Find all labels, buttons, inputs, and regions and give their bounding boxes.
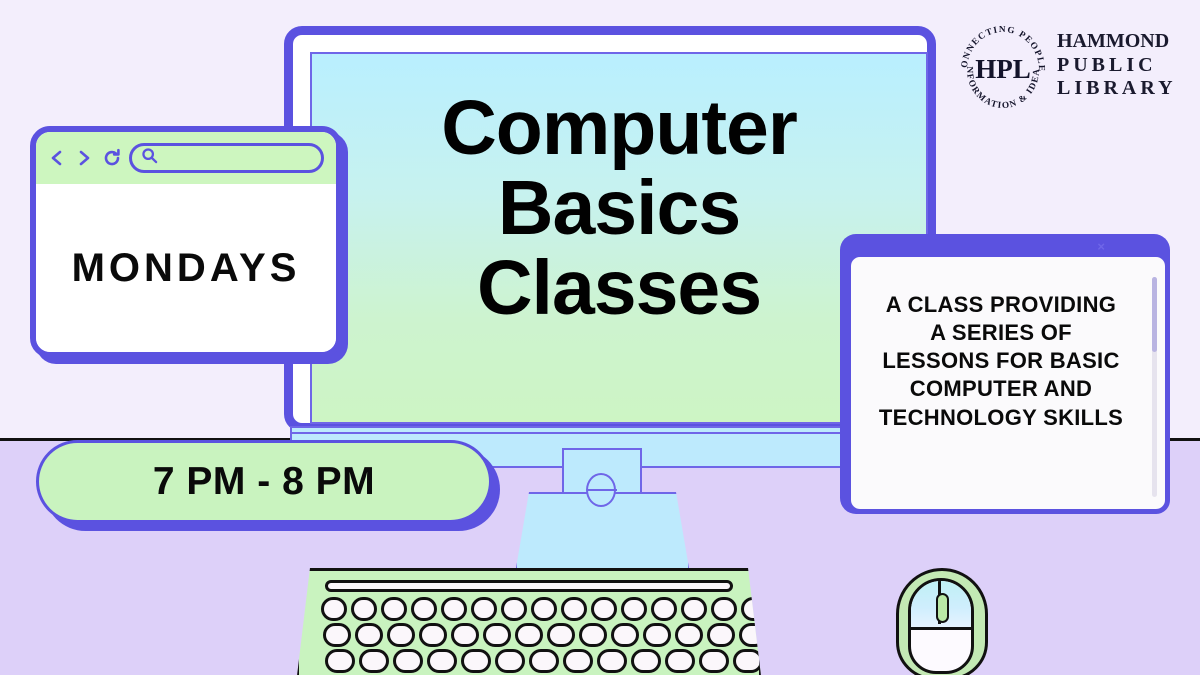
keyboard-key [381,597,407,621]
keyboard-key [515,623,543,647]
keyboard-key [411,597,437,621]
monitor-bezel: Computer Basics Classes [284,26,936,432]
day-label: MONDAYS [72,246,301,291]
mouse-body [908,578,974,674]
keyboard-key [621,597,647,621]
scrollbar-thumb[interactable] [1152,277,1157,352]
description-line-5: TECHNOLOGY SKILLS [859,404,1143,432]
hpl-seal-icon: CONNECTING PEOPLE, INFORMATION & IDEAS H… [955,22,1051,110]
keyboard-key [451,623,479,647]
keyboard-key [393,649,423,673]
keyboard-row [325,649,762,673]
keyboard-key [665,649,695,673]
keyboard-key [561,597,587,621]
poster-canvas: Computer Basics Classes [0,0,1200,675]
library-name: HAMMOND PUBLIC LIBRARY [1057,30,1192,101]
keyboard-key [427,649,457,673]
keyboard-key [733,649,762,673]
description-line-2: A SERIES OF [859,319,1143,347]
keyboard-rows [299,571,759,675]
title-line-1: Computer [312,88,926,168]
keyboard-key [325,649,355,673]
refresh-icon[interactable] [102,148,120,168]
time-label: 7 PM - 8 PM [153,460,375,504]
keyboard-row [321,597,762,621]
keyboard-key [707,623,735,647]
description-line-4: COMPUTER AND [859,375,1143,403]
info-card[interactable]: × A CLASS PROVIDING A SERIES OF LESSONS … [846,252,1170,514]
scrollbar[interactable] [1152,277,1157,497]
browser-content: MONDAYS [36,184,336,352]
keyboard-key [643,623,671,647]
keyboard-key [591,597,617,621]
chevron-left-icon[interactable] [48,148,66,168]
keyboard-key [579,623,607,647]
title-line-3: Classes [312,248,926,328]
page-title: Computer Basics Classes [312,88,926,328]
close-icon[interactable]: × [1097,239,1105,254]
keyboard-key [563,649,593,673]
time-badge: 7 PM - 8 PM [36,440,492,523]
library-logo: CONNECTING PEOPLE, INFORMATION & IDEAS H… [955,18,1190,110]
keyboard-row [323,623,762,647]
keyboard-key [323,623,351,647]
keyboard-key [547,623,575,647]
library-name-line-1: HAMMOND [1057,30,1192,54]
keyboard-key [495,649,525,673]
browser-window[interactable]: MONDAYS [30,126,342,358]
info-card-description: A CLASS PROVIDING A SERIES OF LESSONS FO… [859,291,1143,432]
keyboard-key [359,649,389,673]
keyboard-key [355,623,383,647]
keyboard-key [461,649,491,673]
keyboard [296,568,762,675]
description-line-3: LESSONS FOR BASIC [859,347,1143,375]
svg-text:HPL: HPL [975,54,1031,84]
library-name-line-3: LIBRARY [1057,77,1192,101]
search-input[interactable] [129,143,324,173]
computer-mouse [896,568,988,675]
title-line-2: Basics [312,168,926,248]
keyboard-key [351,597,377,621]
keyboard-key [699,649,729,673]
monitor-screen: Computer Basics Classes [310,52,928,424]
keyboard-key [651,597,677,621]
search-icon [141,147,158,169]
keyboard-key [501,597,527,621]
keyboard-key [471,597,497,621]
chevron-right-icon[interactable] [75,148,93,168]
library-name-line-2: PUBLIC [1057,54,1192,78]
keyboard-key [531,597,557,621]
monitor-stand-emblem [586,473,616,507]
keyboard-key [387,623,415,647]
keyboard-key [483,623,511,647]
keyboard-key [321,597,347,621]
mouse-scroll-wheel [936,593,949,623]
browser-toolbar [36,132,336,184]
keyboard-key [675,623,703,647]
description-line-1: A CLASS PROVIDING [859,291,1143,319]
keyboard-key [529,649,559,673]
keyboard-key [441,597,467,621]
keyboard-key [681,597,707,621]
keyboard-key [711,597,737,621]
keyboard-key [419,623,447,647]
keyboard-key [611,623,639,647]
keyboard-key [631,649,661,673]
desktop-monitor: Computer Basics Classes [284,26,936,448]
keyboard-key [597,649,627,673]
